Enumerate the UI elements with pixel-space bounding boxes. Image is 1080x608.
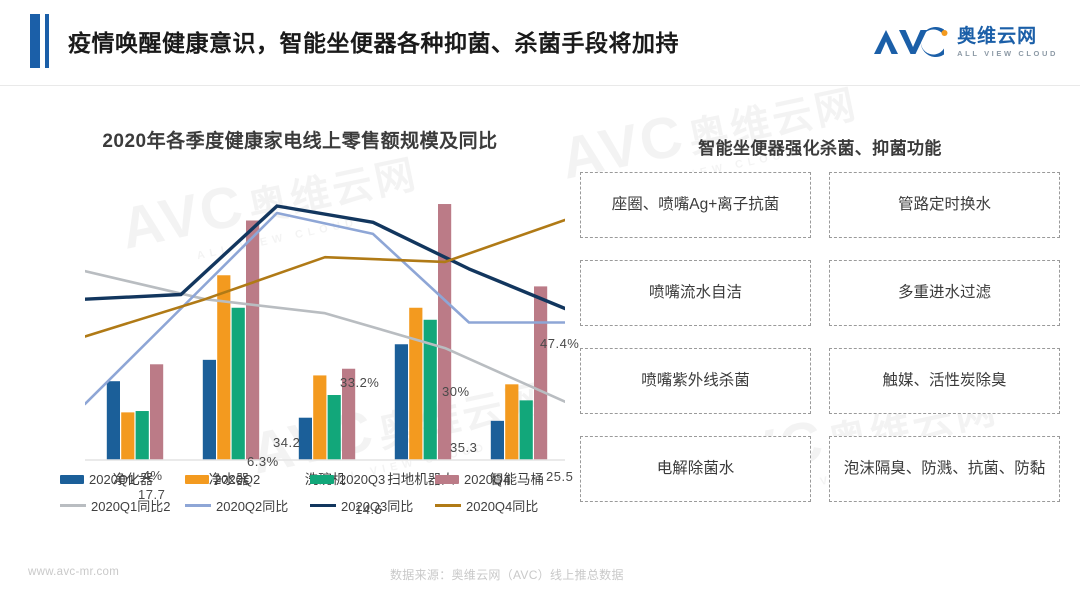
bar-2020Q3-净化器 bbox=[136, 411, 149, 460]
feature-panel: 智能坐便器强化杀菌、抑菌功能 座圈、喷嘴Ag+离子抗菌管路定时换水喷嘴流水自洁多… bbox=[580, 110, 1060, 530]
legend-swatch-icon bbox=[60, 475, 84, 484]
legend-item-2020Q1[interactable]: 2020Q1 bbox=[60, 472, 185, 487]
bar-2020Q2-智能马桶 bbox=[505, 384, 518, 460]
legend-label: 2020Q4 bbox=[464, 472, 510, 487]
legend-line-icon bbox=[60, 504, 86, 507]
legend-line-icon bbox=[185, 504, 211, 507]
legend-item-2020Q2同比[interactable]: 2020Q2同比 bbox=[185, 496, 310, 515]
legend-swatch-icon bbox=[185, 475, 209, 484]
bar-2020Q1-净水器 bbox=[203, 360, 216, 460]
legend-swatch-icon bbox=[310, 475, 334, 484]
bar-2020Q2-扫地机器人 bbox=[409, 308, 422, 460]
avc-logo-en: ALL VIEW CLOUD bbox=[957, 50, 1058, 58]
feature-box-1[interactable]: 座圈、喷嘴Ag+离子抗菌 bbox=[580, 172, 811, 238]
bar-2020Q1-扫地机器人 bbox=[395, 344, 408, 460]
bar-2020Q3-智能马桶 bbox=[520, 400, 533, 460]
avc-logo: 奥维云网 ALL VIEW CLOUD bbox=[872, 20, 1058, 64]
bar-2020Q4-扫地机器人 bbox=[438, 204, 451, 460]
bar-layer bbox=[107, 204, 547, 460]
footer-source: 数据来源：奥维云网（AVC）线上推总数据 bbox=[390, 566, 624, 583]
footer-url[interactable]: www.avc-mr.com bbox=[28, 566, 119, 578]
bar-2020Q4-净水器 bbox=[246, 221, 259, 461]
legend-item-2020Q1同比2[interactable]: 2020Q1同比2 bbox=[60, 496, 185, 515]
feature-box-2[interactable]: 管路定时换水 bbox=[829, 172, 1060, 238]
header-divider bbox=[0, 85, 1080, 86]
legend-label: 2020Q3 bbox=[339, 472, 385, 487]
bar-2020Q2-洗碗机 bbox=[313, 375, 326, 460]
chart-title: 2020年各季度健康家电线上零售额规模及同比 bbox=[30, 126, 570, 153]
legend-item-2020Q4[interactable]: 2020Q4 bbox=[435, 472, 560, 487]
bar-2020Q3-扫地机器人 bbox=[424, 320, 437, 460]
feature-box-5[interactable]: 喷嘴紫外线杀菌 bbox=[580, 348, 811, 414]
page-title: 疫情唤醒健康意识，智能坐便器各种抑菌、杀菌手段将加持 bbox=[68, 24, 679, 58]
feature-box-4[interactable]: 多重进水过滤 bbox=[829, 260, 1060, 326]
chart-plot-area bbox=[85, 172, 565, 462]
legend-row-lines: 2020Q1同比22020Q2同比2020Q3同比2020Q4同比 bbox=[30, 496, 560, 515]
chart-svg bbox=[85, 172, 565, 462]
bar-2020Q4-净化器 bbox=[150, 364, 163, 460]
feature-box-grid: 座圈、喷嘴Ag+离子抗菌管路定时换水喷嘴流水自洁多重进水过滤喷嘴紫外线杀菌触媒、… bbox=[580, 172, 1060, 502]
footer: www.avc-mr.com 数据来源：奥维云网（AVC）线上推总数据 bbox=[0, 550, 1080, 608]
feature-box-7[interactable]: 电解除菌水 bbox=[580, 436, 811, 502]
feature-panel-title: 智能坐便器强化杀菌、抑菌功能 bbox=[580, 134, 1060, 159]
legend-label: 2020Q2同比 bbox=[216, 496, 288, 515]
header-accent-bar-thick bbox=[30, 14, 40, 68]
bar-2020Q2-净化器 bbox=[121, 412, 134, 460]
avc-logo-cn: 奥维云网 bbox=[957, 27, 1058, 46]
bar-2020Q3-净水器 bbox=[232, 308, 245, 460]
legend-swatch-icon bbox=[435, 475, 459, 484]
bar-2020Q4-洗碗机 bbox=[342, 369, 355, 460]
legend-label: 2020Q4同比 bbox=[466, 496, 538, 515]
legend-item-2020Q2[interactable]: 2020Q2 bbox=[185, 472, 310, 487]
legend-label: 2020Q1同比2 bbox=[91, 496, 171, 515]
avc-logo-mark-icon bbox=[872, 27, 950, 57]
legend-line-icon bbox=[435, 504, 461, 507]
header: 疫情唤醒健康意识，智能坐便器各种抑菌、杀菌手段将加持 奥维云网 ALL VIEW… bbox=[0, 0, 1080, 86]
legend-row-bars: 2020Q12020Q22020Q32020Q4 bbox=[30, 472, 560, 487]
legend-item-2020Q3同比[interactable]: 2020Q3同比 bbox=[310, 496, 435, 515]
legend-label: 2020Q1 bbox=[89, 472, 135, 487]
bar-2020Q4-智能马桶 bbox=[534, 286, 547, 460]
slide-root: AVC 奥维云网 ALL VIEW CLOUD AVC 奥维云网 ALL VIE… bbox=[0, 0, 1080, 608]
feature-box-6[interactable]: 触媒、活性炭除臭 bbox=[829, 348, 1060, 414]
legend-item-2020Q4同比[interactable]: 2020Q4同比 bbox=[435, 496, 560, 515]
feature-box-3[interactable]: 喷嘴流水自洁 bbox=[580, 260, 811, 326]
header-accent-bar-thin bbox=[45, 14, 49, 68]
chart-legend: 2020Q12020Q22020Q32020Q4 2020Q1同比22020Q2… bbox=[30, 472, 560, 524]
bar-2020Q1-智能马桶 bbox=[491, 421, 504, 460]
legend-label: 2020Q3同比 bbox=[341, 496, 413, 515]
bar-2020Q1-洗碗机 bbox=[299, 418, 312, 460]
legend-label: 2020Q2 bbox=[214, 472, 260, 487]
legend-line-icon bbox=[310, 504, 336, 507]
legend-item-2020Q3[interactable]: 2020Q3 bbox=[310, 472, 435, 487]
bar-2020Q1-净化器 bbox=[107, 381, 120, 460]
bar-2020Q3-洗碗机 bbox=[328, 395, 341, 460]
feature-box-8[interactable]: 泡沫隔臭、防溅、抗菌、防黏 bbox=[829, 436, 1060, 502]
